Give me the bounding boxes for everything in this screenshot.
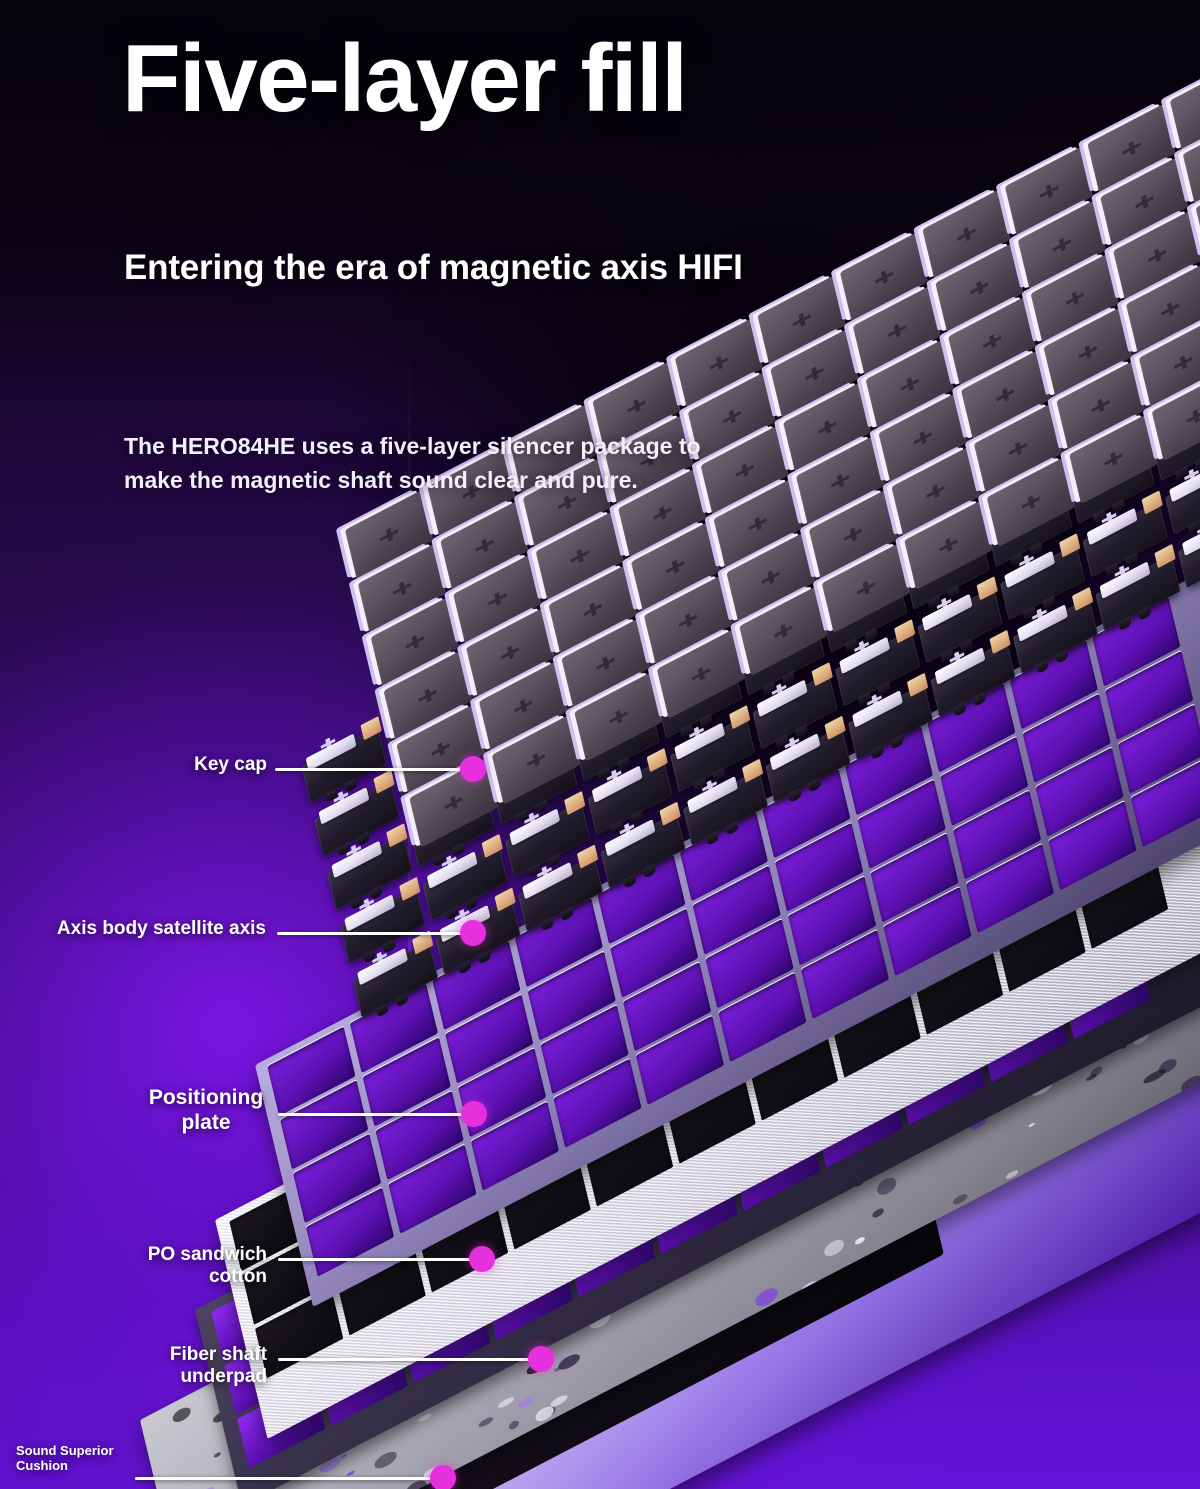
underpad-speckle	[872, 1207, 884, 1219]
underpad-speckle	[876, 1174, 898, 1197]
underpad-speckle	[823, 1236, 846, 1259]
switch-pin	[725, 821, 739, 836]
switch-pin	[541, 917, 555, 932]
underpad-speckle	[213, 1451, 221, 1459]
underpad-speckle	[554, 1366, 562, 1373]
switch-pin	[560, 906, 574, 921]
callout-marker-dot	[460, 756, 486, 782]
callout-marker-dot	[430, 1465, 456, 1489]
page-title: Five-layer fill	[122, 28, 686, 130]
underpad-speckle	[478, 1416, 493, 1429]
underpad-speckle	[346, 1470, 356, 1478]
switch-pin	[458, 960, 472, 975]
underpad-speckle	[171, 1405, 191, 1425]
switch-pin	[376, 1002, 390, 1017]
callout-label-sound-superior-cushion: Sound Superior Cushion	[16, 1443, 128, 1474]
callout-label-positioning-plate: Positioning plate	[145, 1086, 267, 1136]
underpad-speckle	[202, 1485, 215, 1489]
switch-pin	[808, 778, 822, 793]
callout-leader-line	[278, 1258, 476, 1261]
switch-pin	[890, 735, 904, 750]
underpad-speckle	[557, 1351, 581, 1373]
callout-leader-line	[278, 1113, 468, 1116]
body-copy: The HERO84HE uses a five-layer silencer …	[124, 430, 704, 497]
callout-marker-dot	[528, 1346, 554, 1372]
underpad-speckle	[854, 1235, 866, 1246]
underpad-speckle	[1029, 1122, 1035, 1127]
callout-leader-line	[275, 768, 467, 771]
switch-pin	[788, 788, 802, 803]
underpad-speckle	[1086, 1073, 1098, 1082]
callout-label-axis-body-satellite-axis: Axis body satellite axis	[40, 918, 266, 940]
callout-marker-dot	[469, 1246, 495, 1272]
switch-accent-block	[361, 716, 382, 740]
switch-pin	[395, 992, 409, 1007]
page-subtitle: Entering the era of magnetic axis HIFI	[124, 248, 743, 288]
callout-leader-line	[135, 1477, 438, 1480]
callout-label-fiber-shaft-underpad: Fiber shaft underpad	[80, 1344, 267, 1389]
underpad-speckle	[373, 1448, 398, 1471]
underpad-speckle	[341, 1453, 348, 1459]
switch-pin	[478, 949, 492, 964]
underpad-speckle	[1143, 1067, 1167, 1086]
switch-pin	[973, 692, 987, 707]
switch-pin	[1036, 659, 1050, 674]
switch-pin	[953, 702, 967, 717]
callout-leader-line	[277, 932, 467, 935]
switch-pin	[623, 874, 637, 889]
switch-pin	[1055, 649, 1069, 664]
callout-marker-dot	[461, 1101, 487, 1127]
switch-pin	[706, 831, 720, 846]
underpad-speckle	[497, 1395, 514, 1409]
switch-pin	[1118, 616, 1132, 631]
product-feature-page: Five-layer fill Entering the era of magn…	[0, 0, 1200, 1489]
callout-leader-line	[278, 1358, 534, 1361]
callout-label-key-cap: Key cap	[187, 754, 267, 776]
switch-pin	[643, 863, 657, 878]
underpad-speckle	[517, 1395, 534, 1411]
underpad-speckle	[418, 1412, 432, 1423]
callout-label-po-sandwich-cotton: PO sandwich cotton	[92, 1244, 267, 1289]
switch-pin	[871, 745, 885, 760]
switch-pin	[1138, 606, 1152, 621]
underpad-speckle	[508, 1419, 520, 1431]
callout-marker-dot	[460, 920, 486, 946]
